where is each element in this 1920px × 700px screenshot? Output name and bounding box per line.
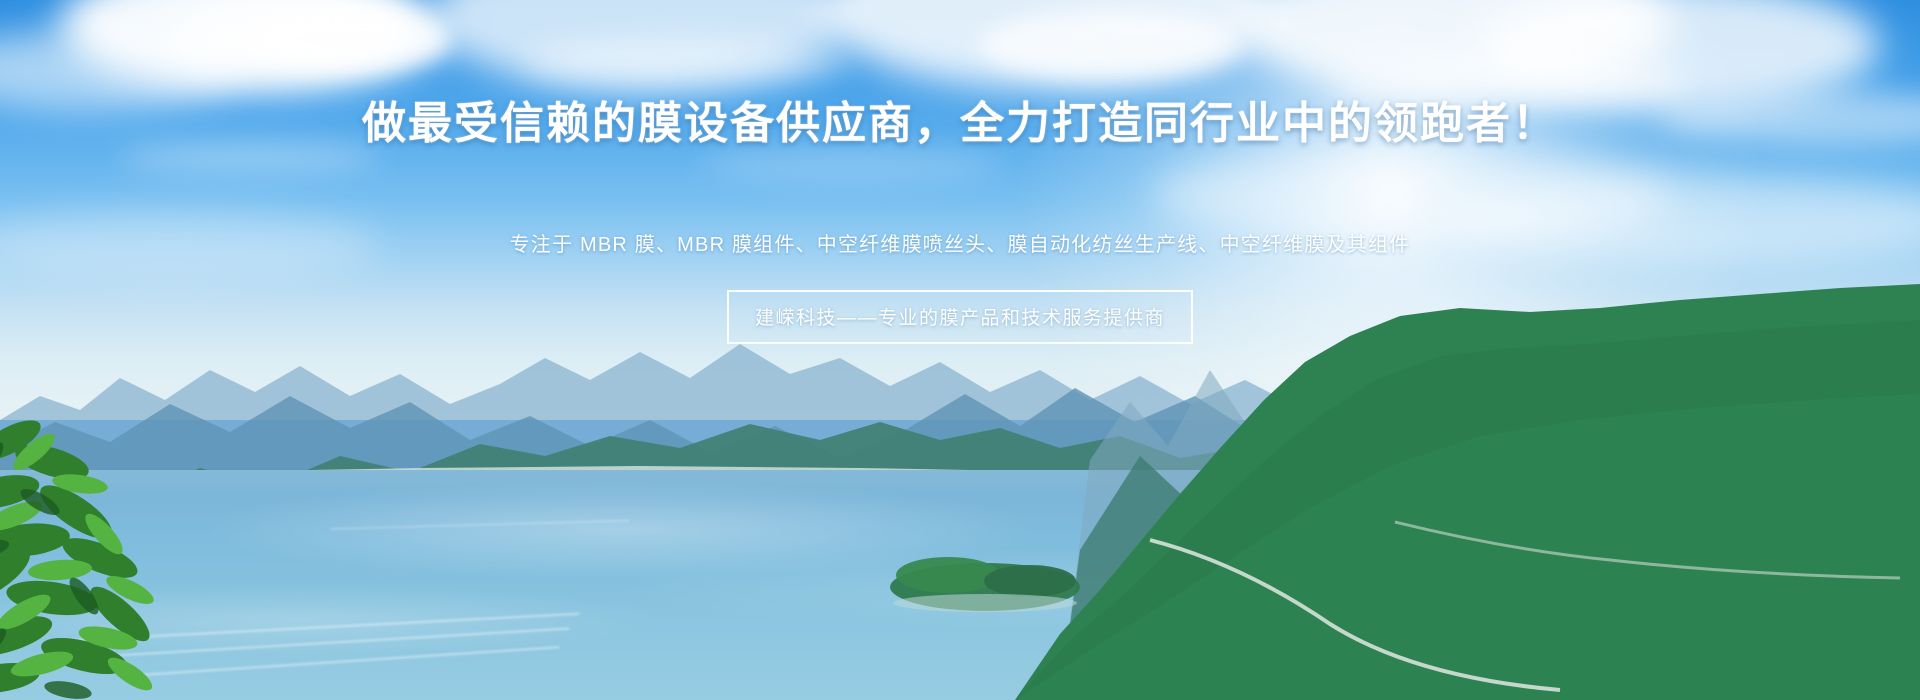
banner-headline: 做最受信赖的膜设备供应商，全力打造同行业中的领跑者！ [0, 99, 1920, 150]
hero-banner: 做最受信赖的膜设备供应商，全力打造同行业中的领跑者！ 专注于 MBR 膜、MBR… [0, 0, 1920, 700]
banner-tagline-box: 建嵘科技——专业的膜产品和技术服务提供商 [727, 290, 1193, 344]
banner-subtitle: 专注于 MBR 膜、MBR 膜组件、中空纤维膜喷丝头、膜自动化纺丝生产线、中空纤… [0, 228, 1920, 257]
foreground-foliage [0, 400, 310, 700]
banner-tagline-wrap: 建嵘科技——专业的膜产品和技术服务提供商 [0, 290, 1920, 344]
